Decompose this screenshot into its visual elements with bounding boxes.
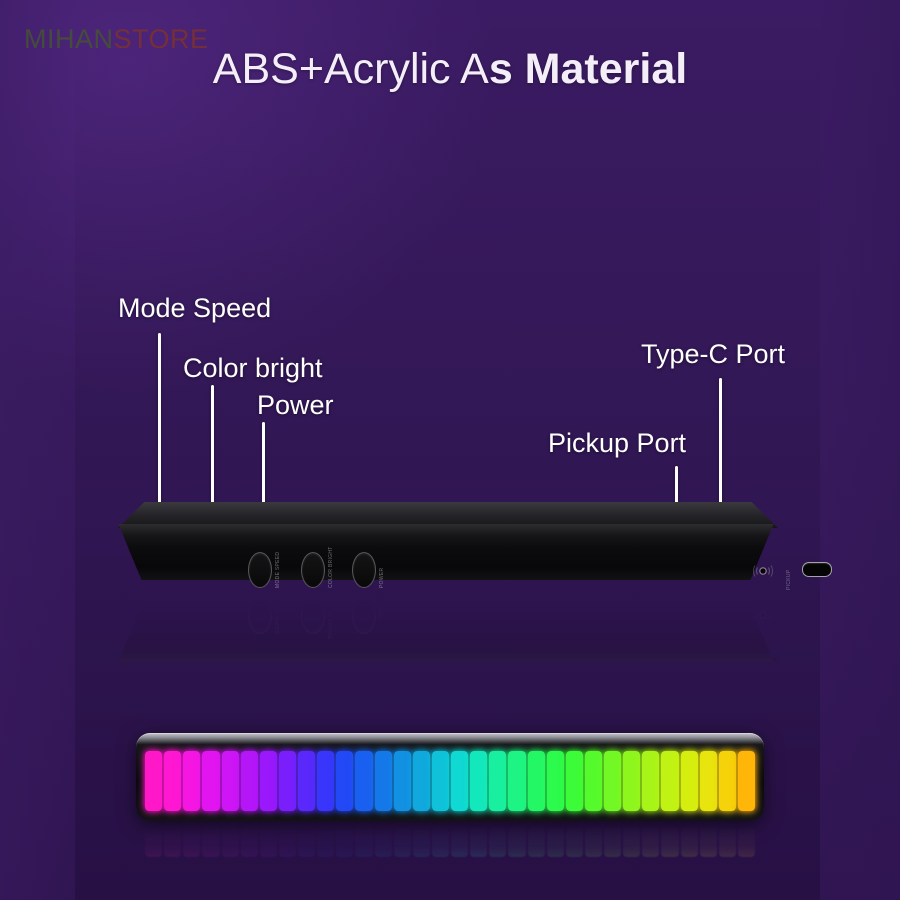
mode-speed-button: [248, 598, 272, 634]
power-button-caption: POWER: [380, 568, 386, 588]
led-segment-reflection: [202, 827, 219, 857]
color-bright-button-caption: COLOR BRIGHT: [329, 546, 335, 588]
mode-speed-button[interactable]: [248, 552, 272, 588]
device-front-face: [96, 524, 796, 580]
pickup-microphone-icon: [750, 604, 776, 630]
right-edge-gradient: [818, 0, 900, 900]
mode-speed-button-caption: MODE SPEED: [276, 552, 282, 588]
led-segment: [241, 751, 258, 811]
led-segment: [145, 751, 162, 811]
led-segment: [260, 751, 277, 811]
led-segment-reflection: [279, 827, 296, 857]
led-segment-reflection: [375, 827, 392, 857]
page-title: ABS+Acrylic As Material: [0, 47, 900, 92]
mode-speed-button-caption: MODE SPEED: [276, 598, 282, 634]
device-reflection: MODE SPEED COLOR BRIGHT POWER PICKUP: [96, 600, 796, 662]
led-segment-reflection: [489, 827, 506, 857]
led-segment-reflection: [738, 827, 755, 857]
led-segment: [279, 751, 296, 811]
led-segment: [681, 751, 698, 811]
led-segment-reflection: [661, 827, 678, 857]
led-segment: [183, 751, 200, 811]
usb-type-c-port: [802, 609, 832, 624]
pickup-microphone-icon[interactable]: [750, 556, 776, 582]
device-sheen: [96, 606, 796, 662]
led-segment-reflection: [681, 827, 698, 857]
led-segment-row: [145, 751, 755, 811]
led-segment-reflection: [222, 827, 239, 857]
led-segment: [585, 751, 602, 811]
callout-label-power: Power: [257, 392, 334, 419]
led-segment: [413, 751, 430, 811]
led-segment: [317, 751, 334, 811]
led-segment-reflection: [298, 827, 315, 857]
callout-label-type-c-port: Type-C Port: [641, 341, 785, 368]
color-bright-button: [301, 598, 325, 634]
page-title-thin: ABS+Acrylic A: [213, 45, 489, 93]
led-segment: [547, 751, 564, 811]
callout-label-mode-speed: Mode Speed: [118, 295, 271, 322]
device-body: MODE SPEED COLOR BRIGHT POWER PICKUP: [96, 586, 796, 684]
led-segment-reflection: [623, 827, 640, 857]
led-segment: [355, 751, 372, 811]
product-marketing-image: MIHANSTORE ABS+Acrylic As Material Mode …: [0, 0, 900, 900]
led-segment: [738, 751, 755, 811]
led-segment-reflection: [183, 827, 200, 857]
led-segment: [394, 751, 411, 811]
led-segment-reflection: [470, 827, 487, 857]
led-segment: [566, 751, 583, 811]
pickup-port-caption: PICKUP: [786, 570, 792, 590]
led-segment-reflection: [317, 827, 334, 857]
power-button-caption: POWER: [380, 598, 386, 618]
led-segment: [164, 751, 181, 811]
device-body: MODE SPEED COLOR BRIGHT POWER PICKUP: [96, 502, 796, 600]
led-segment: [489, 751, 506, 811]
led-segment-reflection: [394, 827, 411, 857]
led-segment-row-reflection: [145, 827, 755, 857]
led-segment-reflection: [145, 827, 162, 857]
led-segment: [528, 751, 545, 811]
led-segment: [202, 751, 219, 811]
led-segment-reflection: [355, 827, 372, 857]
led-segment-reflection: [164, 827, 181, 857]
power-button[interactable]: [352, 552, 376, 588]
color-bright-button[interactable]: [301, 552, 325, 588]
callout-label-pickup-port: Pickup Port: [548, 430, 686, 457]
power-button: [352, 598, 376, 634]
color-bright-button-caption: COLOR BRIGHT: [329, 598, 335, 640]
led-segment: [604, 751, 621, 811]
led-segment-reflection: [432, 827, 449, 857]
device-front-face: [96, 606, 796, 662]
page-title-bold: s Material: [489, 45, 687, 93]
led-segment-reflection: [451, 827, 468, 857]
led-segment: [375, 751, 392, 811]
led-segment-reflection: [585, 827, 602, 857]
led-segment: [432, 751, 449, 811]
led-segment-reflection: [547, 827, 564, 857]
led-segment: [642, 751, 659, 811]
device-top-face: [118, 658, 778, 684]
led-segment: [222, 751, 239, 811]
led-segment: [336, 751, 353, 811]
led-segment-reflection: [719, 827, 736, 857]
led-segment: [700, 751, 717, 811]
led-segment: [470, 751, 487, 811]
led-segment: [661, 751, 678, 811]
led-segment: [451, 751, 468, 811]
led-segment-reflection: [700, 827, 717, 857]
led-segment-reflection: [566, 827, 583, 857]
callout-label-color-bright: Color bright: [183, 355, 323, 382]
led-segment-reflection: [336, 827, 353, 857]
led-segment-reflection: [604, 827, 621, 857]
usb-type-c-port[interactable]: [802, 562, 832, 577]
led-segment: [719, 751, 736, 811]
led-segment: [298, 751, 315, 811]
led-segment-reflection: [508, 827, 525, 857]
led-segment: [623, 751, 640, 811]
led-segment-reflection: [642, 827, 659, 857]
led-segment: [508, 751, 525, 811]
rgb-led-bar: [136, 733, 764, 821]
led-segment-reflection: [260, 827, 277, 857]
rgb-led-bar-reflection: [136, 823, 764, 879]
led-segment-reflection: [528, 827, 545, 857]
left-edge-gradient: [0, 0, 78, 900]
led-segment-reflection: [413, 827, 430, 857]
led-segment-reflection: [241, 827, 258, 857]
